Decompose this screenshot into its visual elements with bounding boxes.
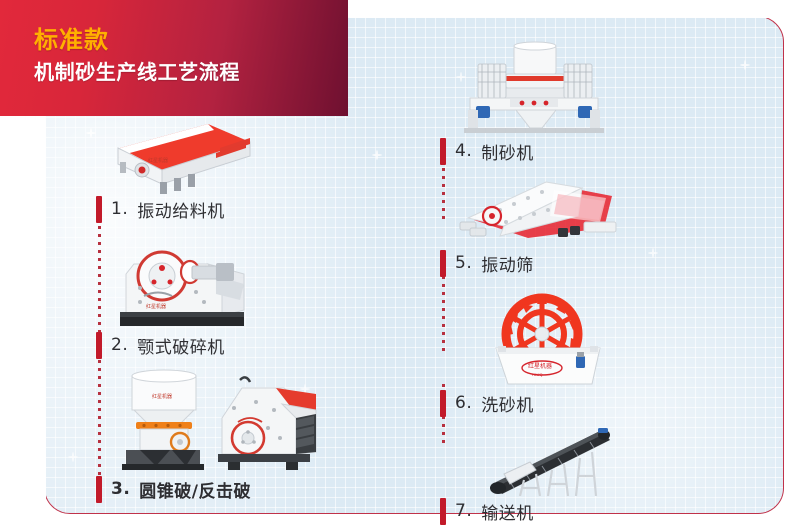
step-sand-making-machine[interactable]: 4. 制砂机 [440,40,700,166]
svg-text:红星机器: 红星机器 [528,362,552,370]
step-2-label-row[interactable]: 2. 颚式破碎机 [96,330,346,360]
step-jaw-crusher[interactable]: 红星机器 2. 颚式破碎机 [96,230,346,360]
jaw-crusher-icon: 红星机器 [104,230,264,330]
step-3-label: 圆锥破/反击破 [139,477,251,502]
cone-and-impact-crusher-illustration: 红星机器 [100,366,346,474]
right-step-column: 4. 制砂机 [440,40,700,526]
step-3-label-row[interactable]: 3. 圆锥破/反击破 [96,474,346,504]
sand-making-machine-icon [454,40,614,136]
step-cone-impact-crusher[interactable]: 红星机器 [96,366,346,504]
jaw-crusher-illustration: 红星机器 [104,230,346,330]
belt-conveyor-illustration [484,426,700,496]
sand-washer-illustration: 红星机器 HXJQ [480,290,700,388]
svg-text:红星机器: 红星机器 [146,303,166,310]
flowchart-poster: 标准款 机制砂生产线工艺流程 [0,0,800,530]
step-2-index: 2. [111,335,128,355]
svg-text:HXJQ: HXJQ [532,372,543,377]
svg-text:红星机器: 红星机器 [152,393,172,400]
vibrating-screen-illustration [454,176,700,248]
step-6-index: 6. [455,393,472,413]
title-banner: 标准款 机制砂生产线工艺流程 [0,0,348,116]
step-3-index: 3. [111,479,130,499]
step-5-label-row[interactable]: 5. 振动筛 [440,248,700,278]
step-marker-bar [96,476,102,503]
step-vibrating-feeder[interactable]: 红星机器 1. 振动给料机 [96,108,346,224]
vibrating-screen-icon [454,176,624,248]
page-margin-right [784,0,800,530]
step-5-index: 5. [455,253,472,273]
step-4-label-row[interactable]: 4. 制砂机 [440,136,700,166]
left-step-column: 红星机器 1. 振动给料机 [96,108,346,504]
step-belt-conveyor[interactable]: 7. 输送机 [440,426,700,526]
banner-title: 机制砂生产线工艺流程 [34,59,240,86]
step-1-index: 1. [111,199,128,219]
title-banner-text: 标准款 机制砂生产线工艺流程 [34,26,240,86]
step-marker-bar [96,196,102,223]
step-6-label: 洗砂机 [481,391,534,416]
step-marker-bar [96,332,102,359]
sand-washer-icon: 红星机器 HXJQ [480,290,620,388]
step-1-label-row[interactable]: 1. 振动给料机 [96,194,346,224]
step-7-label-row[interactable]: 7. 输送机 [440,496,700,526]
svg-text:红星机器: 红星机器 [148,157,168,164]
step-marker-bar [440,250,446,277]
step-marker-bar [440,498,446,525]
belt-conveyor-icon [484,426,624,496]
step-vibrating-screen[interactable]: 5. 振动筛 [440,176,700,278]
step-marker-bar [440,390,446,417]
vibrating-feeder-illustration: 红星机器 [104,108,346,194]
step-6-label-row[interactable]: 6. 洗砂机 [440,388,700,418]
step-4-index: 4. [455,141,472,161]
vibrating-feeder-icon: 红星机器 [104,108,254,194]
step-2-label: 颚式破碎机 [137,333,225,358]
step-5-label: 振动筛 [481,251,534,276]
step-marker-bar [440,138,446,165]
banner-subtitle: 标准款 [34,26,240,54]
sand-making-machine-illustration [454,40,700,136]
step-7-index: 7. [455,501,472,521]
cone-and-impact-crusher-icon: 红星机器 [100,366,330,474]
step-4-label: 制砂机 [481,139,534,164]
step-7-label: 输送机 [481,499,534,524]
step-1-label: 振动给料机 [137,197,225,222]
step-sand-washer[interactable]: 红星机器 HXJQ 6. 洗砂机 [440,290,700,418]
